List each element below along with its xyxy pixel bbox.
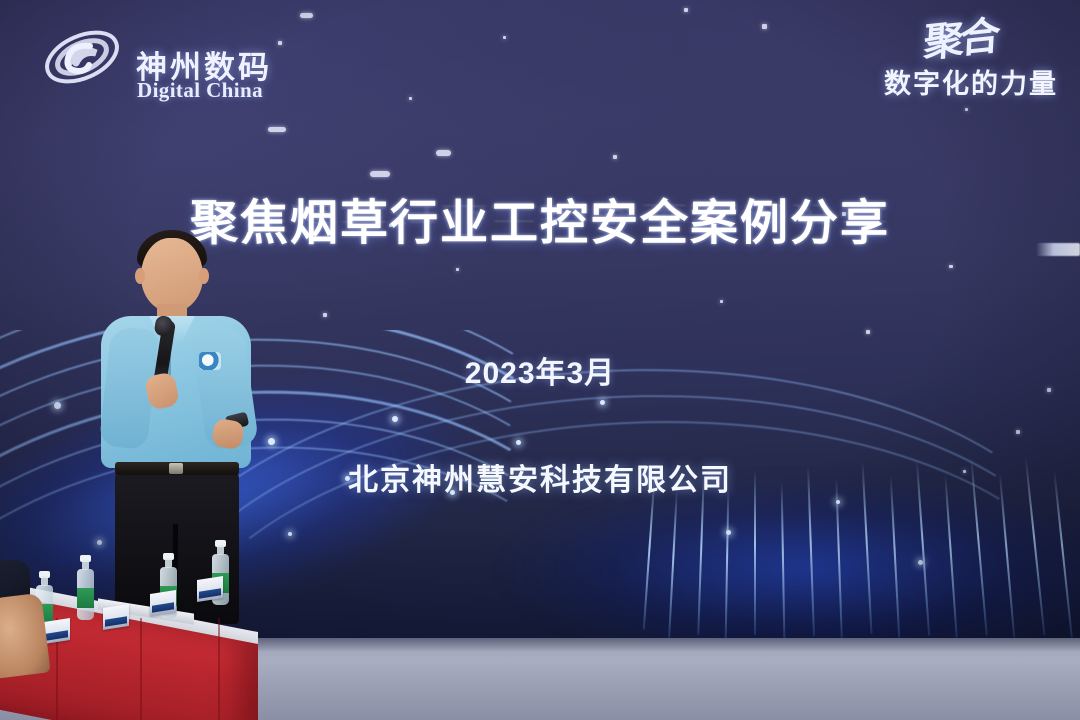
name-card <box>44 618 70 644</box>
shirt-logo-icon <box>199 352 221 370</box>
digital-china-logo: 神州数码 Digital China <box>40 18 300 98</box>
conference-photo: 神州数码 Digital China 聚合 数字化的力量 聚焦烟草行业工控安全案… <box>0 0 1080 720</box>
name-card <box>103 604 129 630</box>
speaker-ear-left <box>135 268 145 284</box>
campaign-slogan: 聚合 数字化的力量 <box>788 20 1058 101</box>
name-card <box>150 590 176 616</box>
campaign-tagline-cn: 数字化的力量 <box>788 62 1058 101</box>
brand-name-en: Digital China <box>137 78 263 103</box>
skirt-fold <box>218 618 220 720</box>
name-card <box>197 576 223 602</box>
water-bottle <box>77 560 94 620</box>
speaker-head <box>141 238 203 312</box>
speaker-ear-right <box>199 268 209 284</box>
skirt-fold <box>140 618 142 720</box>
campaign-mark-cn: 聚合 <box>923 16 998 63</box>
belt-buckle <box>169 463 183 474</box>
digital-china-spiral-icon <box>40 22 124 92</box>
